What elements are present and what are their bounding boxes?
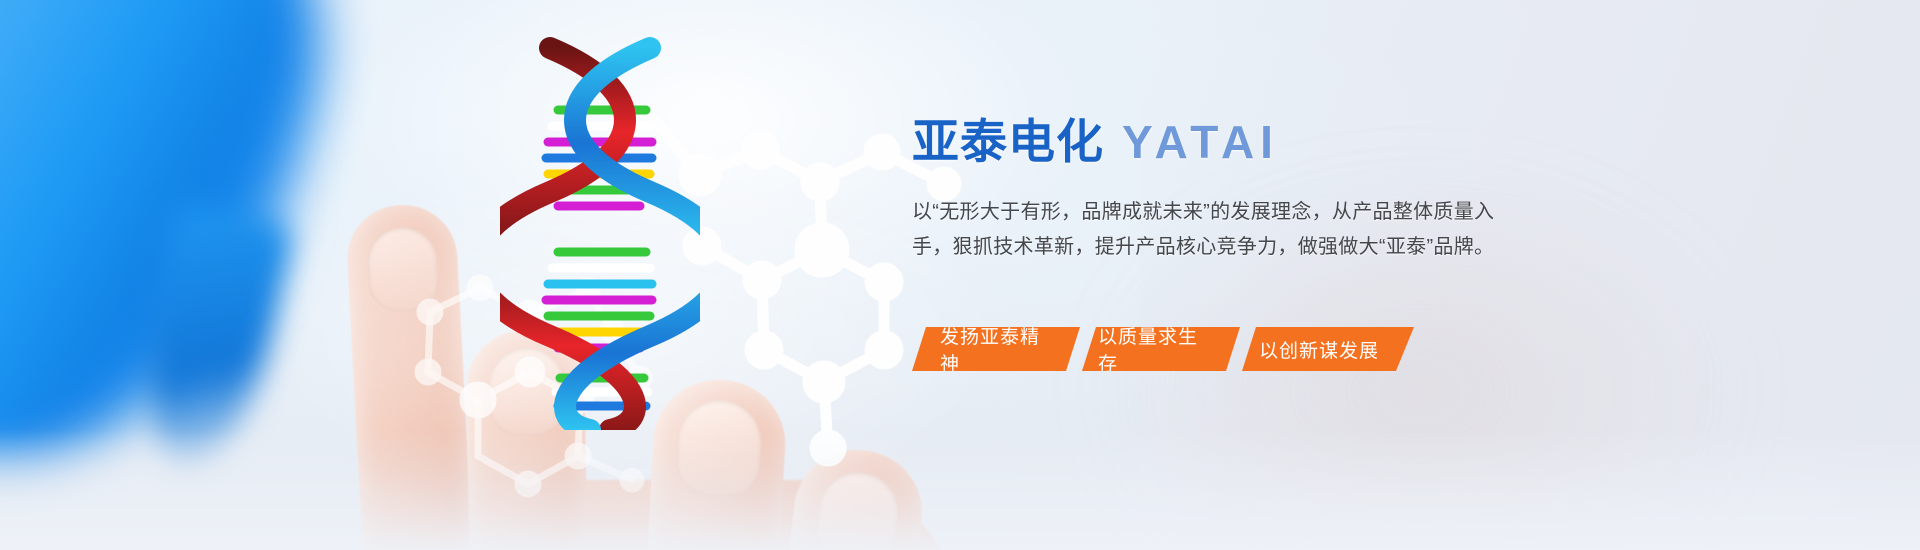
description-line-1: 以“无形大于有形，品牌成就未来”的发展理念，从产品整体质量入 [912, 195, 1542, 230]
hero-banner: 亚泰电化YATAI 以“无形大于有形，品牌成就未来”的发展理念，从产品整体质量入… [0, 0, 1920, 550]
slogan-tag-2[interactable]: 以质量求生存 [1078, 327, 1240, 371]
slogan-tag-3-label: 以创新谋发展 [1259, 336, 1379, 363]
banner-description: 以“无形大于有形，品牌成就未来”的发展理念，从产品整体质量入 手，狠抓技术革新，… [912, 195, 1542, 265]
dna-double-helix-icon [500, 30, 700, 430]
slogan-tag-3[interactable]: 以创新谋发展 [1238, 327, 1414, 371]
slogan-tag-2-label: 以质量求生存 [1098, 322, 1212, 376]
slogan-tag-1-label: 发扬亚泰精神 [940, 322, 1052, 376]
banner-text-block: 亚泰电化YATAI 以“无形大于有形，品牌成就未来”的发展理念，从产品整体质量入… [912, 118, 1552, 265]
slogan-tag-1[interactable]: 发扬亚泰精神 [912, 327, 1080, 371]
brand-title-en: YATAI [1122, 116, 1279, 168]
description-line-2: 手，狠抓技术革新，提升产品核心竞争力，做强做大“亚泰”品牌。 [912, 230, 1542, 265]
brand-title-cn: 亚泰电化 [912, 115, 1104, 168]
slogan-ribbon-group: 发扬亚泰精神 以质量求生存 以创新谋发展 [912, 327, 1414, 371]
page-title: 亚泰电化YATAI [912, 118, 1552, 165]
background-bottom-fade [0, 430, 1920, 550]
